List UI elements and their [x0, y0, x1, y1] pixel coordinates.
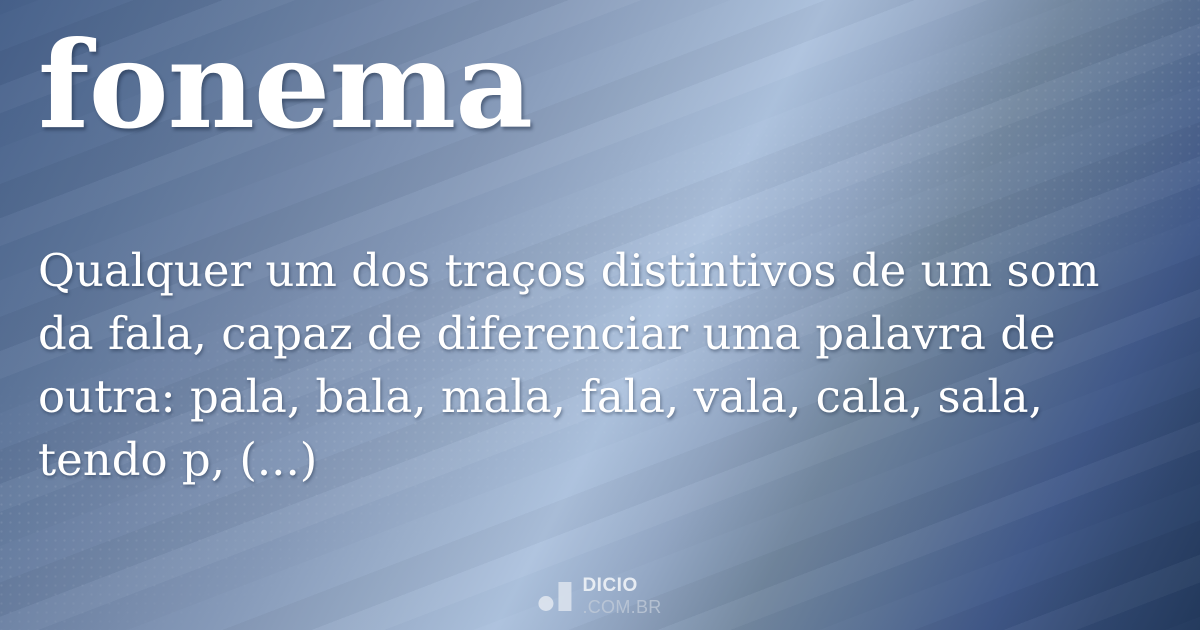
definition-text: Qualquer um dos traços distintivos de um…	[38, 239, 1128, 491]
card-content: fonema Qualquer um dos traços distintivo…	[0, 0, 1200, 630]
brand-mark-icon	[538, 581, 571, 611]
rectangle-icon	[558, 582, 571, 611]
brand-wordmark: DICIO .COM.BR	[582, 576, 661, 616]
circle-icon	[538, 596, 553, 611]
brand-name-label: DICIO	[582, 576, 661, 595]
brand-logo[interactable]: DICIO .COM.BR	[538, 576, 661, 616]
page-title: fonema	[38, 26, 532, 146]
definition-card: fonema Qualquer um dos traços distintivo…	[0, 0, 1200, 630]
brand-tld-label: .COM.BR	[582, 598, 661, 616]
